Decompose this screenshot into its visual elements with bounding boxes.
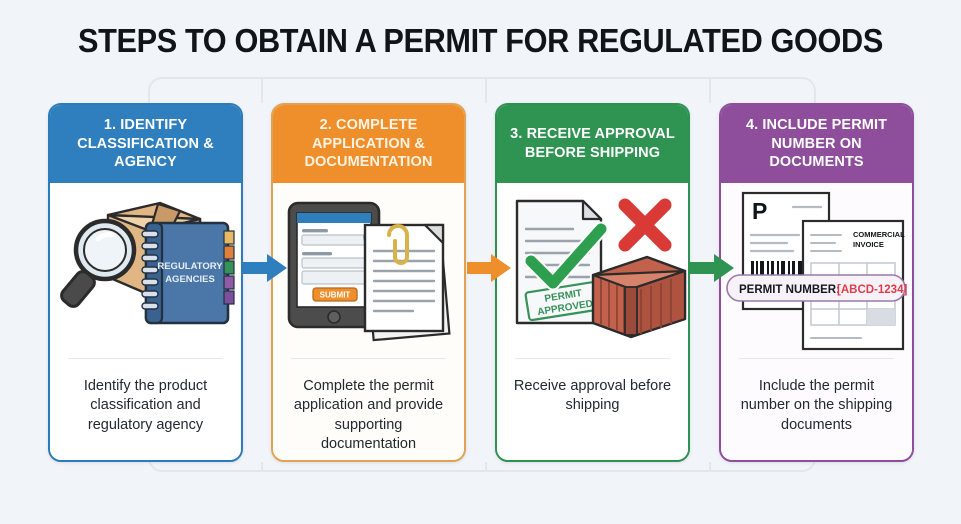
permit-number-badge: PERMIT NUMBER: [ABCD-1234] xyxy=(727,275,907,301)
invoice-line1: COMMERCIAL xyxy=(853,230,905,239)
step-4-illustration: P xyxy=(721,183,912,358)
step-card-3[interactable]: 3. RECEIVE APPROVAL BEFORE SHIPPING xyxy=(495,103,690,462)
step-2-caption: Complete the permit application and prov… xyxy=(273,359,464,460)
step-1-header: 1. IDENTIFY CLASSIFICATION & AGENCY xyxy=(50,105,241,183)
step-2-body: SUBMIT xyxy=(273,183,464,460)
step-1-body: REGULATORY AGENCIES Identify the product… xyxy=(50,183,241,460)
step-card-2[interactable]: 2. COMPLETE APPLICATION & DOCUMENTATION xyxy=(271,103,466,462)
step-2-header: 2. COMPLETE APPLICATION & DOCUMENTATION xyxy=(273,105,464,183)
step-4-header: 4. INCLUDE PERMIT NUMBER ON DOCUMENTS xyxy=(721,105,912,183)
arrow-step-3-to-4 xyxy=(690,253,736,283)
shipping-container xyxy=(593,257,685,337)
badge-label: PERMIT NUMBER: xyxy=(739,284,840,296)
label-letter: P xyxy=(752,198,767,224)
step-4-caption: Include the permit number on the shippin… xyxy=(721,359,912,460)
step-3-header: 3. RECEIVE APPROVAL BEFORE SHIPPING xyxy=(497,105,688,183)
cross-icon xyxy=(625,205,665,245)
binder-label-line1: REGULATORY xyxy=(157,261,223,272)
submit-button-label: SUBMIT xyxy=(320,291,351,300)
step-2-illustration: SUBMIT xyxy=(273,183,464,358)
binder-label-line2: AGENCIES xyxy=(165,274,215,285)
step-4-body: P xyxy=(721,183,912,460)
step-3-illustration: PERMIT APPROVED xyxy=(497,183,688,358)
invoice-line2: INVOICE xyxy=(853,240,884,249)
step-3-caption: Receive approval before shipping xyxy=(497,359,688,460)
arrow-step-2-to-3 xyxy=(467,253,513,283)
step-1-illustration: REGULATORY AGENCIES xyxy=(50,183,241,358)
document-stack xyxy=(365,225,450,340)
badge-value: [ABCD-1234] xyxy=(837,284,907,296)
step-3-body: PERMIT APPROVED xyxy=(497,183,688,460)
approved-document: PERMIT APPROVED xyxy=(517,201,603,323)
step-1-caption: Identify the product classification and … xyxy=(50,359,241,460)
magnifier-icon xyxy=(59,221,134,309)
arrow-step-1-to-2 xyxy=(243,253,289,283)
step-card-4[interactable]: 4. INCLUDE PERMIT NUMBER ON DOCUMENTS P xyxy=(719,103,914,462)
steps-container: 1. IDENTIFY CLASSIFICATION & AGENCY xyxy=(0,0,961,524)
regulatory-agencies-binder: REGULATORY AGENCIES xyxy=(142,223,234,323)
step-card-1[interactable]: 1. IDENTIFY CLASSIFICATION & AGENCY xyxy=(48,103,243,462)
